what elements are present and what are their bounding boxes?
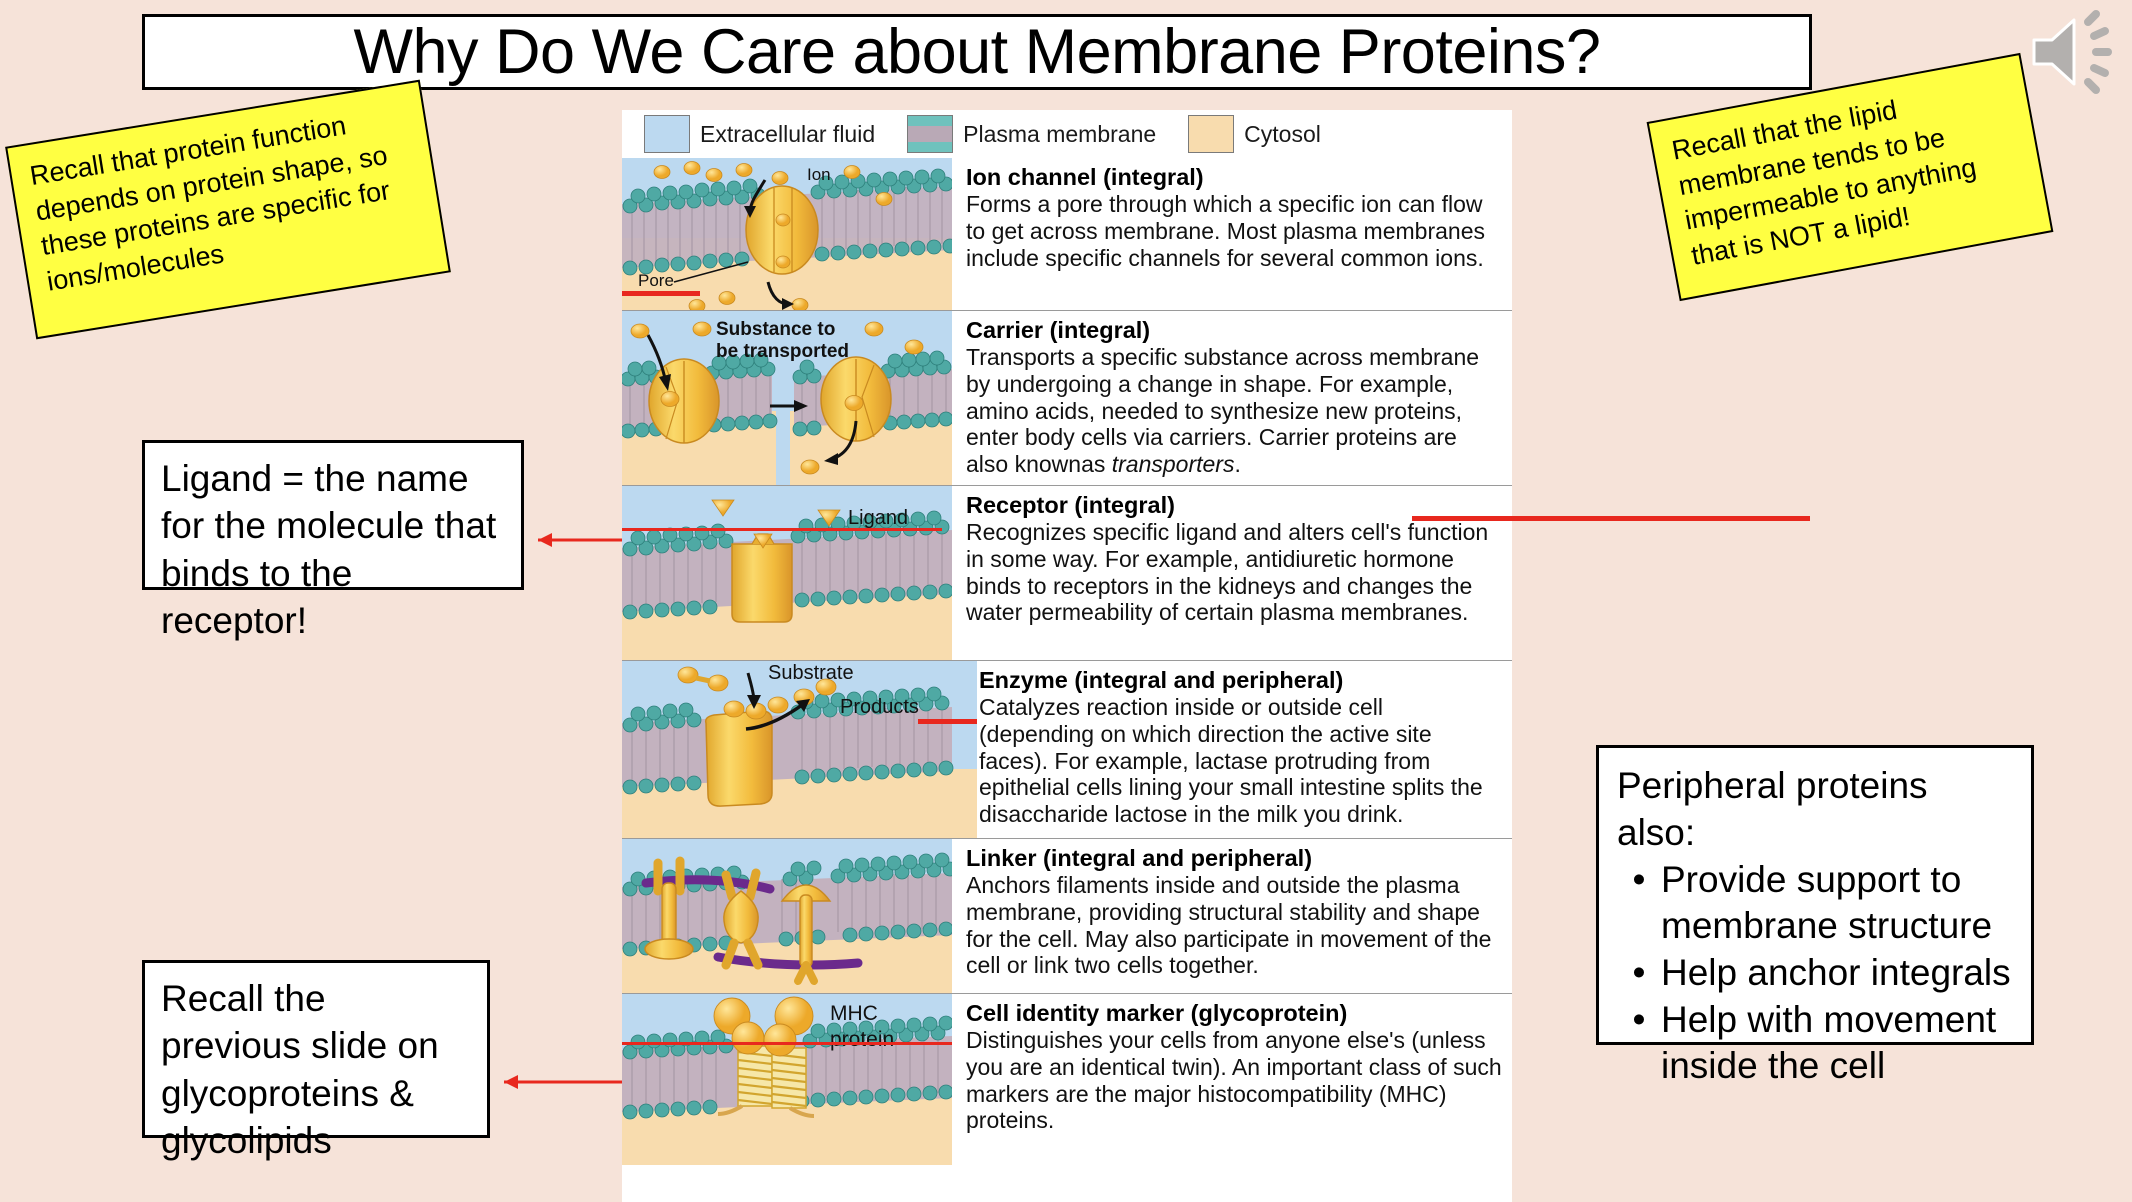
slide-canvas: Why Do We Care about Membrane Proteins? … <box>0 0 2132 1202</box>
desc-title: Cell identity marker (glycoprotein) <box>966 1000 1502 1026</box>
desc-enzyme: Enzyme (integral and peripheral) Catalyz… <box>977 661 1512 838</box>
red-underline-mhc <box>622 1042 952 1045</box>
desc-ion-channel: Ion channel (integral) Forms a pore thro… <box>952 158 1512 310</box>
red-underline-ligand <box>622 528 942 531</box>
desc-title: Linker (integral and peripheral) <box>966 845 1502 871</box>
desc-body: Transports a specific substance across m… <box>966 344 1502 477</box>
figure-rows: Ion Pore Ion channel (integral) Forms a … <box>622 158 1512 1165</box>
sticky-note-lipid-impermeable-text: Recall that the lipid membrane tends to … <box>1670 95 1979 271</box>
desc-body: Anchors filaments inside and outside the… <box>966 872 1502 979</box>
panel-receptor: Ligand <box>622 486 952 660</box>
list-item: • Help anchor integrals <box>1617 950 2013 997</box>
desc-receptor: Receptor (integral) Recognizes specific … <box>952 486 1512 660</box>
figure-legend: Extracellular fluid Plasma membrane Cyto… <box>622 110 1512 158</box>
desc-body-post: . <box>1234 451 1240 477</box>
panel-label-ion: Ion <box>807 165 831 184</box>
panel-label-mhc-line1: MHC <box>830 1002 878 1025</box>
red-underline-transporters <box>1412 516 1810 521</box>
panel-ion-channel: Ion Pore <box>622 158 952 310</box>
desc-cell-identity-marker: Cell identity marker (glycoprotein) Dist… <box>952 994 1512 1165</box>
callout-glycoproteins: Recall the previous slide on glycoprotei… <box>142 960 490 1138</box>
desc-linker: Linker (integral and peripheral) Anchors… <box>952 839 1512 993</box>
figure-row-receptor: Ligand Receptor (integral) Recognizes sp… <box>622 485 1512 660</box>
legend-swatch-cytosol <box>1188 115 1234 153</box>
callout-peripheral-proteins: Peripheral proteins also: • Provide supp… <box>1596 745 2034 1045</box>
figure-row-linker: Linker (integral and peripheral) Anchors… <box>622 838 1512 993</box>
panel-label-substrate: Substrate <box>768 662 854 684</box>
legend-label-membrane: Plasma membrane <box>963 121 1156 148</box>
desc-title: Ion channel (integral) <box>966 164 1502 190</box>
panel-label-substance-line2: be transported <box>716 341 849 362</box>
desc-body: Recognizes specific ligand and alters ce… <box>966 519 1502 626</box>
callout-glycoproteins-text: Recall the previous slide on glycoprotei… <box>161 978 439 1161</box>
sticky-note-lipid-impermeable: Recall that the lipid membrane tends to … <box>1647 53 2054 301</box>
page-title-text: Why Do We Care about Membrane Proteins? <box>354 21 1601 84</box>
desc-carrier: Carrier (integral) Transports a specific… <box>952 311 1512 485</box>
desc-body: Distinguishes your cells from anyone els… <box>966 1027 1502 1134</box>
desc-body: Catalyzes reaction inside or outside cel… <box>979 694 1502 827</box>
page-title: Why Do We Care about Membrane Proteins? <box>142 14 1812 90</box>
panel-linker <box>622 839 952 993</box>
arrow-ligand-to-receptor <box>522 520 632 560</box>
panel-enzyme: Substrate Products <box>622 661 977 838</box>
list-item: • Provide support to membrane structure <box>1617 857 2013 950</box>
list-item: • Help with movement inside the cell <box>1617 997 2013 1090</box>
figure-row-carrier: Substance to be transported Carrier (int… <box>622 310 1512 485</box>
panel-label-substance-line1: Substance to <box>716 319 835 340</box>
figure-row-ion-channel: Ion Pore Ion channel (integral) Forms a … <box>622 158 1512 310</box>
figure-row-enzyme: Substrate Products Enzyme (integral and … <box>622 660 1512 838</box>
desc-title: Receptor (integral) <box>966 492 1502 518</box>
legend-swatch-extracellular <box>644 115 690 153</box>
panel-label-products: Products <box>840 696 919 718</box>
panel-label-ligand: Ligand <box>848 507 908 529</box>
callout-ligand-text: Ligand = the name for the molecule that … <box>161 458 496 641</box>
panel-label-mhc-line2: protein <box>830 1028 894 1051</box>
panel-carrier: Substance to be transported <box>622 311 952 485</box>
figure-row-cell-identity-marker: MHC protein Cell identity marker (glycop… <box>622 993 1512 1165</box>
speaker-icon[interactable] <box>2026 8 2114 96</box>
legend-swatch-membrane <box>907 115 953 153</box>
red-underline-catalyzes <box>918 719 977 724</box>
callout-ligand: Ligand = the name for the molecule that … <box>142 440 524 590</box>
desc-body-italic: transporters <box>1112 451 1235 477</box>
callout-peripheral-list: • Provide support to membrane structure … <box>1617 857 2013 1090</box>
desc-body: Forms a pore through which a specific io… <box>966 191 1502 271</box>
sticky-note-protein-shape-text: Recall that protein function depends on … <box>28 110 392 296</box>
list-item-text: Help with movement inside the cell <box>1661 997 2013 1090</box>
panel-label-pore: Pore <box>638 271 674 290</box>
red-underline-pore <box>622 291 700 296</box>
sticky-note-protein-shape: Recall that protein function depends on … <box>5 80 451 340</box>
bullet-glyph: • <box>1617 950 1661 997</box>
panel-cell-identity-marker: MHC protein <box>622 994 952 1165</box>
list-item-text: Provide support to membrane structure <box>1661 857 2013 950</box>
bullet-glyph: • <box>1617 857 1661 950</box>
membrane-protein-figure: Extracellular fluid Plasma membrane Cyto… <box>622 110 1512 1202</box>
bullet-glyph: • <box>1617 997 1661 1090</box>
list-item-text: Help anchor integrals <box>1661 950 2013 997</box>
legend-label-extracellular: Extracellular fluid <box>700 121 875 148</box>
callout-peripheral-lead: Peripheral proteins also: <box>1617 762 2013 857</box>
desc-title: Carrier (integral) <box>966 317 1502 343</box>
desc-title: Enzyme (integral and peripheral) <box>979 667 1502 693</box>
legend-label-cytosol: Cytosol <box>1244 121 1321 148</box>
